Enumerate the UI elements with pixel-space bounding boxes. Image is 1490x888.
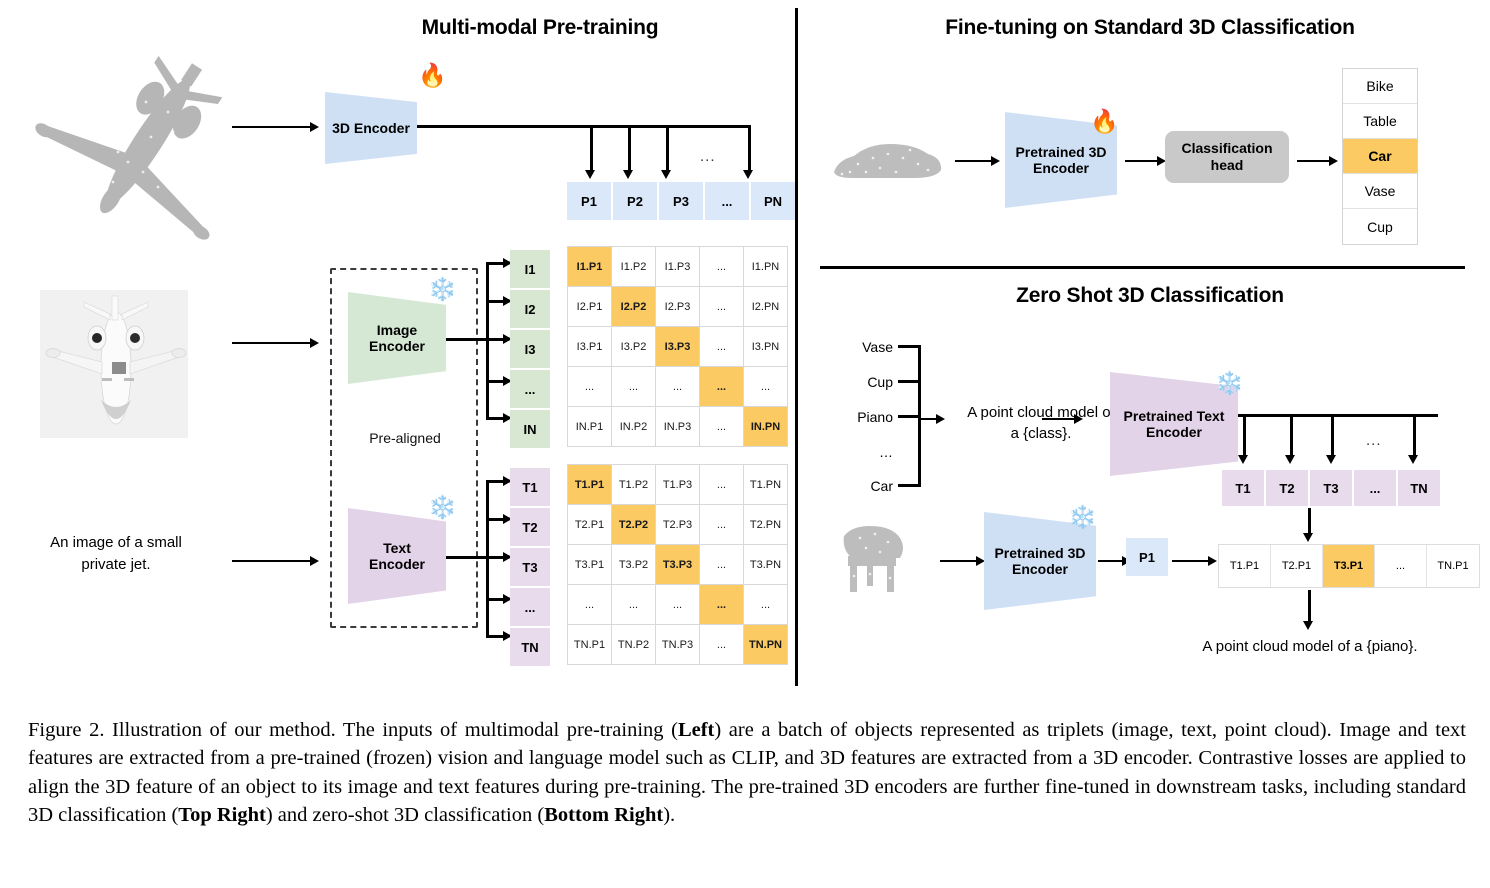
bracket-tick-cup [898,380,920,383]
snowflake-icon: ❄️ [1068,506,1097,529]
arrowhead-pn [743,170,753,179]
arrow-piano-to-encoder [940,556,985,566]
feature-cell-in[interactable]: IN [510,410,550,448]
arrow-prompt-to-text-encoder [1042,414,1083,424]
text-feature-stack: T1 T2 T3 ... TN [510,468,550,666]
text-matrix-cell-0-1: T1.P2 [612,465,655,504]
arrow-head-to-classes [1297,156,1338,166]
feature-cell-i2[interactable]: I2 [510,290,550,328]
class-item-table[interactable]: Table [1343,104,1417,139]
class-prediction-list: BikeTableCarVaseCup [1342,68,1418,245]
text-matrix-cell-0-4: T1.PN [744,465,787,504]
arrow-encoder-to-head [1125,156,1166,166]
bus-drop-zs-t1 [1243,414,1246,456]
bracket-tick-vase [898,345,920,348]
fanout-branch-t4 [486,598,504,601]
arrow-pointcloud-to-encoder [232,122,319,132]
image-matrix-cell-3-2: ... [656,367,699,406]
fanout-branch-i1 [486,262,504,265]
zeroshot-sim-cell-4: TN.P1 [1427,545,1479,587]
fanout-branch-t3 [486,556,504,559]
text-matrix-cell-3-0: ... [568,585,611,624]
zeroshot-sim-cell-1: T2.P1 [1271,545,1323,587]
caption-text: ). [663,804,675,826]
encoder-pretrained-3d-label: Pretrained 3DEncoder [1015,144,1106,176]
fanout-branch-t1 [486,480,504,483]
image-matrix-cell-4-2: IN.P3 [656,407,699,446]
encoder-3d[interactable]: 3D Encoder [325,92,417,164]
panel-title-finetuning: Fine-tuning on Standard 3D Classificatio… [830,16,1470,40]
fanout-branch-i2 [486,300,504,303]
text-matrix-cell-1-0: T2.P1 [568,505,611,544]
text-matrix-cell-3-4: ... [744,585,787,624]
feature-cell-pn[interactable]: PN [751,182,795,220]
image-matrix-cell-2-0: I3.P1 [568,327,611,366]
arrowhead-zs-t1 [1238,455,1248,464]
text-matrix-cell-3-3: ... [700,585,743,624]
image-matrix-cell-0-0: I1.P1 [568,247,611,286]
prealigned-label: Pre-aligned [338,430,472,446]
fire-icon: 🔥 [1090,110,1119,133]
zeroshot-class-car: Car [823,478,893,494]
encoder-pretrained-text-label: Pretrained TextEncoder [1124,408,1225,440]
bracket-tick-car [898,484,920,487]
arrowhead-sim-to-result [1303,621,1313,630]
encoder-image-label: ImageEncoder [369,322,425,354]
feature-cell-t2[interactable]: T2 [510,508,550,546]
bus-drop-zs-t2 [1290,414,1293,456]
encoder-text[interactable]: TextEncoder [348,508,446,604]
image-matrix-cell-0-4: I1.PN [744,247,787,286]
caption-bold: Left [678,719,714,741]
text-matrix-cell-2-0: T3.P1 [568,545,611,584]
zs-feature-cell-t2[interactable]: T2 [1266,470,1308,506]
text-matrix-cell-4-1: TN.P2 [612,625,655,664]
caption-text: Figure 2. Illustration of our method. Th… [28,719,678,741]
arrowhead-trow-to-sim [1303,533,1313,542]
feature-cell-p2[interactable]: P2 [613,182,657,220]
feature-cell-t1[interactable]: T1 [510,468,550,506]
input-text-caption: An image of a small private jet. [26,532,206,576]
zeroshot-class-vase: Vase [823,339,893,355]
arrowhead-zs-t2 [1285,455,1295,464]
arrowhead-p2 [623,170,633,179]
arrow-p1-to-sim [1172,556,1217,566]
fire-icon: 🔥 [418,64,447,87]
text-matrix-cell-4-3: ... [700,625,743,664]
pointcloud-feature-row: P1 P2 P3 ... PN [567,182,795,220]
snowflake-icon: ❄️ [428,496,457,519]
zeroshot-class-ellipsis: … [823,444,893,460]
image-matrix-cell-1-3: ... [700,287,743,326]
pointcloud-car [828,128,946,190]
bus-drop-pn [748,125,751,171]
zeroshot-text-feature-row: T1 T2 T3 ... TN [1222,470,1440,506]
image-matrix-cell-0-2: I1.P3 [656,247,699,286]
zeroshot-sim-cell-2: T3.P1 [1323,545,1375,587]
zeroshot-sim-cell-0: T1.P1 [1219,545,1271,587]
image-matrix-cell-2-2: I3.P3 [656,327,699,366]
image-matrix-cell-0-1: I1.P2 [612,247,655,286]
text-matrix-cell-1-3: ... [700,505,743,544]
text-pointcloud-similarity-matrix: T1.P1T1.P2T1.P3...T1.PNT2.P1T2.P2T2.P3..… [567,464,788,665]
text-matrix-cell-2-4: T3.PN [744,545,787,584]
feature-cell-p3[interactable]: P3 [659,182,703,220]
image-matrix-cell-3-3: ... [700,367,743,406]
fanout-spine-text [486,480,489,637]
input-image-jet [40,290,188,438]
caption-text: ) and zero-shot 3D classification ( [266,804,544,826]
zeroshot-class-cup: Cup [823,374,893,390]
text-matrix-cell-3-2: ... [656,585,699,624]
feature-cell-t-ellipsis: ... [510,588,550,626]
panel-title-zeroshot: Zero Shot 3D Classification [830,284,1470,308]
feature-cell-i-ellipsis: ... [510,370,550,408]
encoder-image[interactable]: ImageEncoder [348,292,446,384]
image-matrix-cell-1-4: I2.PN [744,287,787,326]
class-item-bike[interactable]: Bike [1343,69,1417,104]
image-matrix-cell-3-0: ... [568,367,611,406]
arrow-text-to-encoder [232,556,319,566]
text-matrix-cell-0-0: T1.P1 [568,465,611,504]
feature-cell-i1[interactable]: I1 [510,250,550,288]
image-matrix-cell-0-3: ... [700,247,743,286]
pointcloud-piano [830,518,920,596]
zs-feature-cell-t-ellipsis: ... [1354,470,1396,506]
bus-ellipsis-p: ... [700,148,716,165]
class-item-cup[interactable]: Cup [1343,209,1417,244]
zs-feature-cell-t3[interactable]: T3 [1310,470,1352,506]
class-item-vase[interactable]: Vase [1343,174,1417,209]
image-matrix-cell-4-0: IN.P1 [568,407,611,446]
fanout-stem-text [446,556,486,559]
fanout-stem-image [446,338,486,341]
feature-cell-t3[interactable]: T3 [510,548,550,586]
text-matrix-cell-0-2: T1.P3 [656,465,699,504]
bus-line-3d [417,125,750,128]
snowflake-icon: ❄️ [428,278,457,301]
arrow-trow-to-sim [1308,508,1311,534]
arrowhead-zs-t3 [1326,455,1336,464]
bus-drop-p3 [666,125,669,171]
zeroshot-similarity-row: T1.P1T2.P1T3.P1...TN.P1 [1218,544,1480,588]
text-matrix-cell-2-1: T3.P2 [612,545,655,584]
text-matrix-cell-1-1: T2.P2 [612,505,655,544]
fanout-branch-in [486,417,504,420]
zeroshot-sim-cell-3: ... [1375,545,1427,587]
classification-head-label: Classificationhead [1181,140,1272,174]
arrowhead-zs-tn [1408,455,1418,464]
caption-bold: Bottom Right [544,804,663,826]
arrowhead-p3 [661,170,671,179]
feature-cell-i3[interactable]: I3 [510,330,550,368]
image-matrix-cell-1-0: I2.P1 [568,287,611,326]
image-matrix-cell-3-4: ... [744,367,787,406]
fanout-branch-t2 [486,518,504,521]
text-matrix-cell-1-2: T2.P3 [656,505,699,544]
feature-cell-tn[interactable]: TN [510,628,550,666]
arrowhead-p1 [585,170,595,179]
fanout-branch-i3 [486,338,504,341]
text-matrix-cell-2-3: ... [700,545,743,584]
image-matrix-cell-2-3: ... [700,327,743,366]
prompt-template: A point cloud model ofa {class}. [950,402,1132,444]
encoder-pretrained-3d-zs-label: Pretrained 3DEncoder [994,545,1085,577]
vertical-panel-divider [795,8,798,686]
image-matrix-cell-2-4: I3.PN [744,327,787,366]
pointcloud-airplane [18,42,278,242]
image-matrix-cell-4-1: IN.P2 [612,407,655,446]
text-matrix-cell-3-1: ... [612,585,655,624]
feature-cell-p-ellipsis: ... [705,182,749,220]
fanout-branch-i4 [486,380,504,383]
bus-drop-p1 [590,125,593,171]
arrow-image-to-encoder [232,338,319,348]
bus-drop-zs-t3 [1331,414,1334,456]
image-matrix-cell-4-3: ... [700,407,743,446]
feature-cell-p1[interactable]: P1 [567,182,611,220]
arrow-sim-to-result [1308,590,1311,622]
image-pointcloud-similarity-matrix: I1.P1I1.P2I1.P3...I1.PNI2.P1I2.P2I2.P3..… [567,246,788,447]
image-matrix-cell-3-1: ... [612,367,655,406]
fanout-spine-image [486,262,489,419]
zs-feature-cell-tn[interactable]: TN [1398,470,1440,506]
zeroshot-class-piano: Piano [823,409,893,425]
encoder-3d-label: 3D Encoder [332,120,410,136]
zeroshot-pointcloud-feature-p1[interactable]: P1 [1126,538,1168,576]
bus-line-zs-text [1238,414,1438,417]
fanout-branch-tn [486,635,504,638]
figure-caption: Figure 2. Illustration of our method. Th… [28,716,1466,829]
text-matrix-cell-4-0: TN.P1 [568,625,611,664]
arrow-car-to-encoder [955,156,1000,166]
bus-drop-p2 [628,125,631,171]
text-matrix-cell-2-2: T3.P3 [656,545,699,584]
text-matrix-cell-1-4: T2.PN [744,505,787,544]
image-matrix-cell-2-1: I3.P2 [612,327,655,366]
bracket-tick-piano [898,415,920,418]
horizontal-panel-divider [820,266,1465,269]
image-feature-stack: I1 I2 I3 ... IN [510,250,550,448]
image-matrix-cell-1-1: I2.P2 [612,287,655,326]
arrow-bracket-to-prompt [918,414,945,424]
class-item-car[interactable]: Car [1343,139,1417,174]
image-matrix-cell-1-2: I2.P3 [656,287,699,326]
zs-feature-cell-t1[interactable]: T1 [1222,470,1264,506]
zeroshot-result-text: A point cloud model of a {piano}. [1160,638,1460,655]
text-matrix-cell-0-3: ... [700,465,743,504]
encoder-text-label: TextEncoder [369,540,425,572]
classification-head[interactable]: Classificationhead [1165,131,1289,183]
text-matrix-cell-4-4: TN.PN [744,625,787,664]
snowflake-icon: ❄️ [1215,372,1244,395]
bus-ellipsis-zs: ... [1366,432,1382,449]
text-matrix-cell-4-2: TN.P3 [656,625,699,664]
caption-bold: Top Right [178,804,266,826]
panel-title-pretraining: Multi-modal Pre-training [280,16,800,40]
bus-drop-zs-tn [1413,414,1416,456]
image-matrix-cell-4-4: IN.PN [744,407,787,446]
